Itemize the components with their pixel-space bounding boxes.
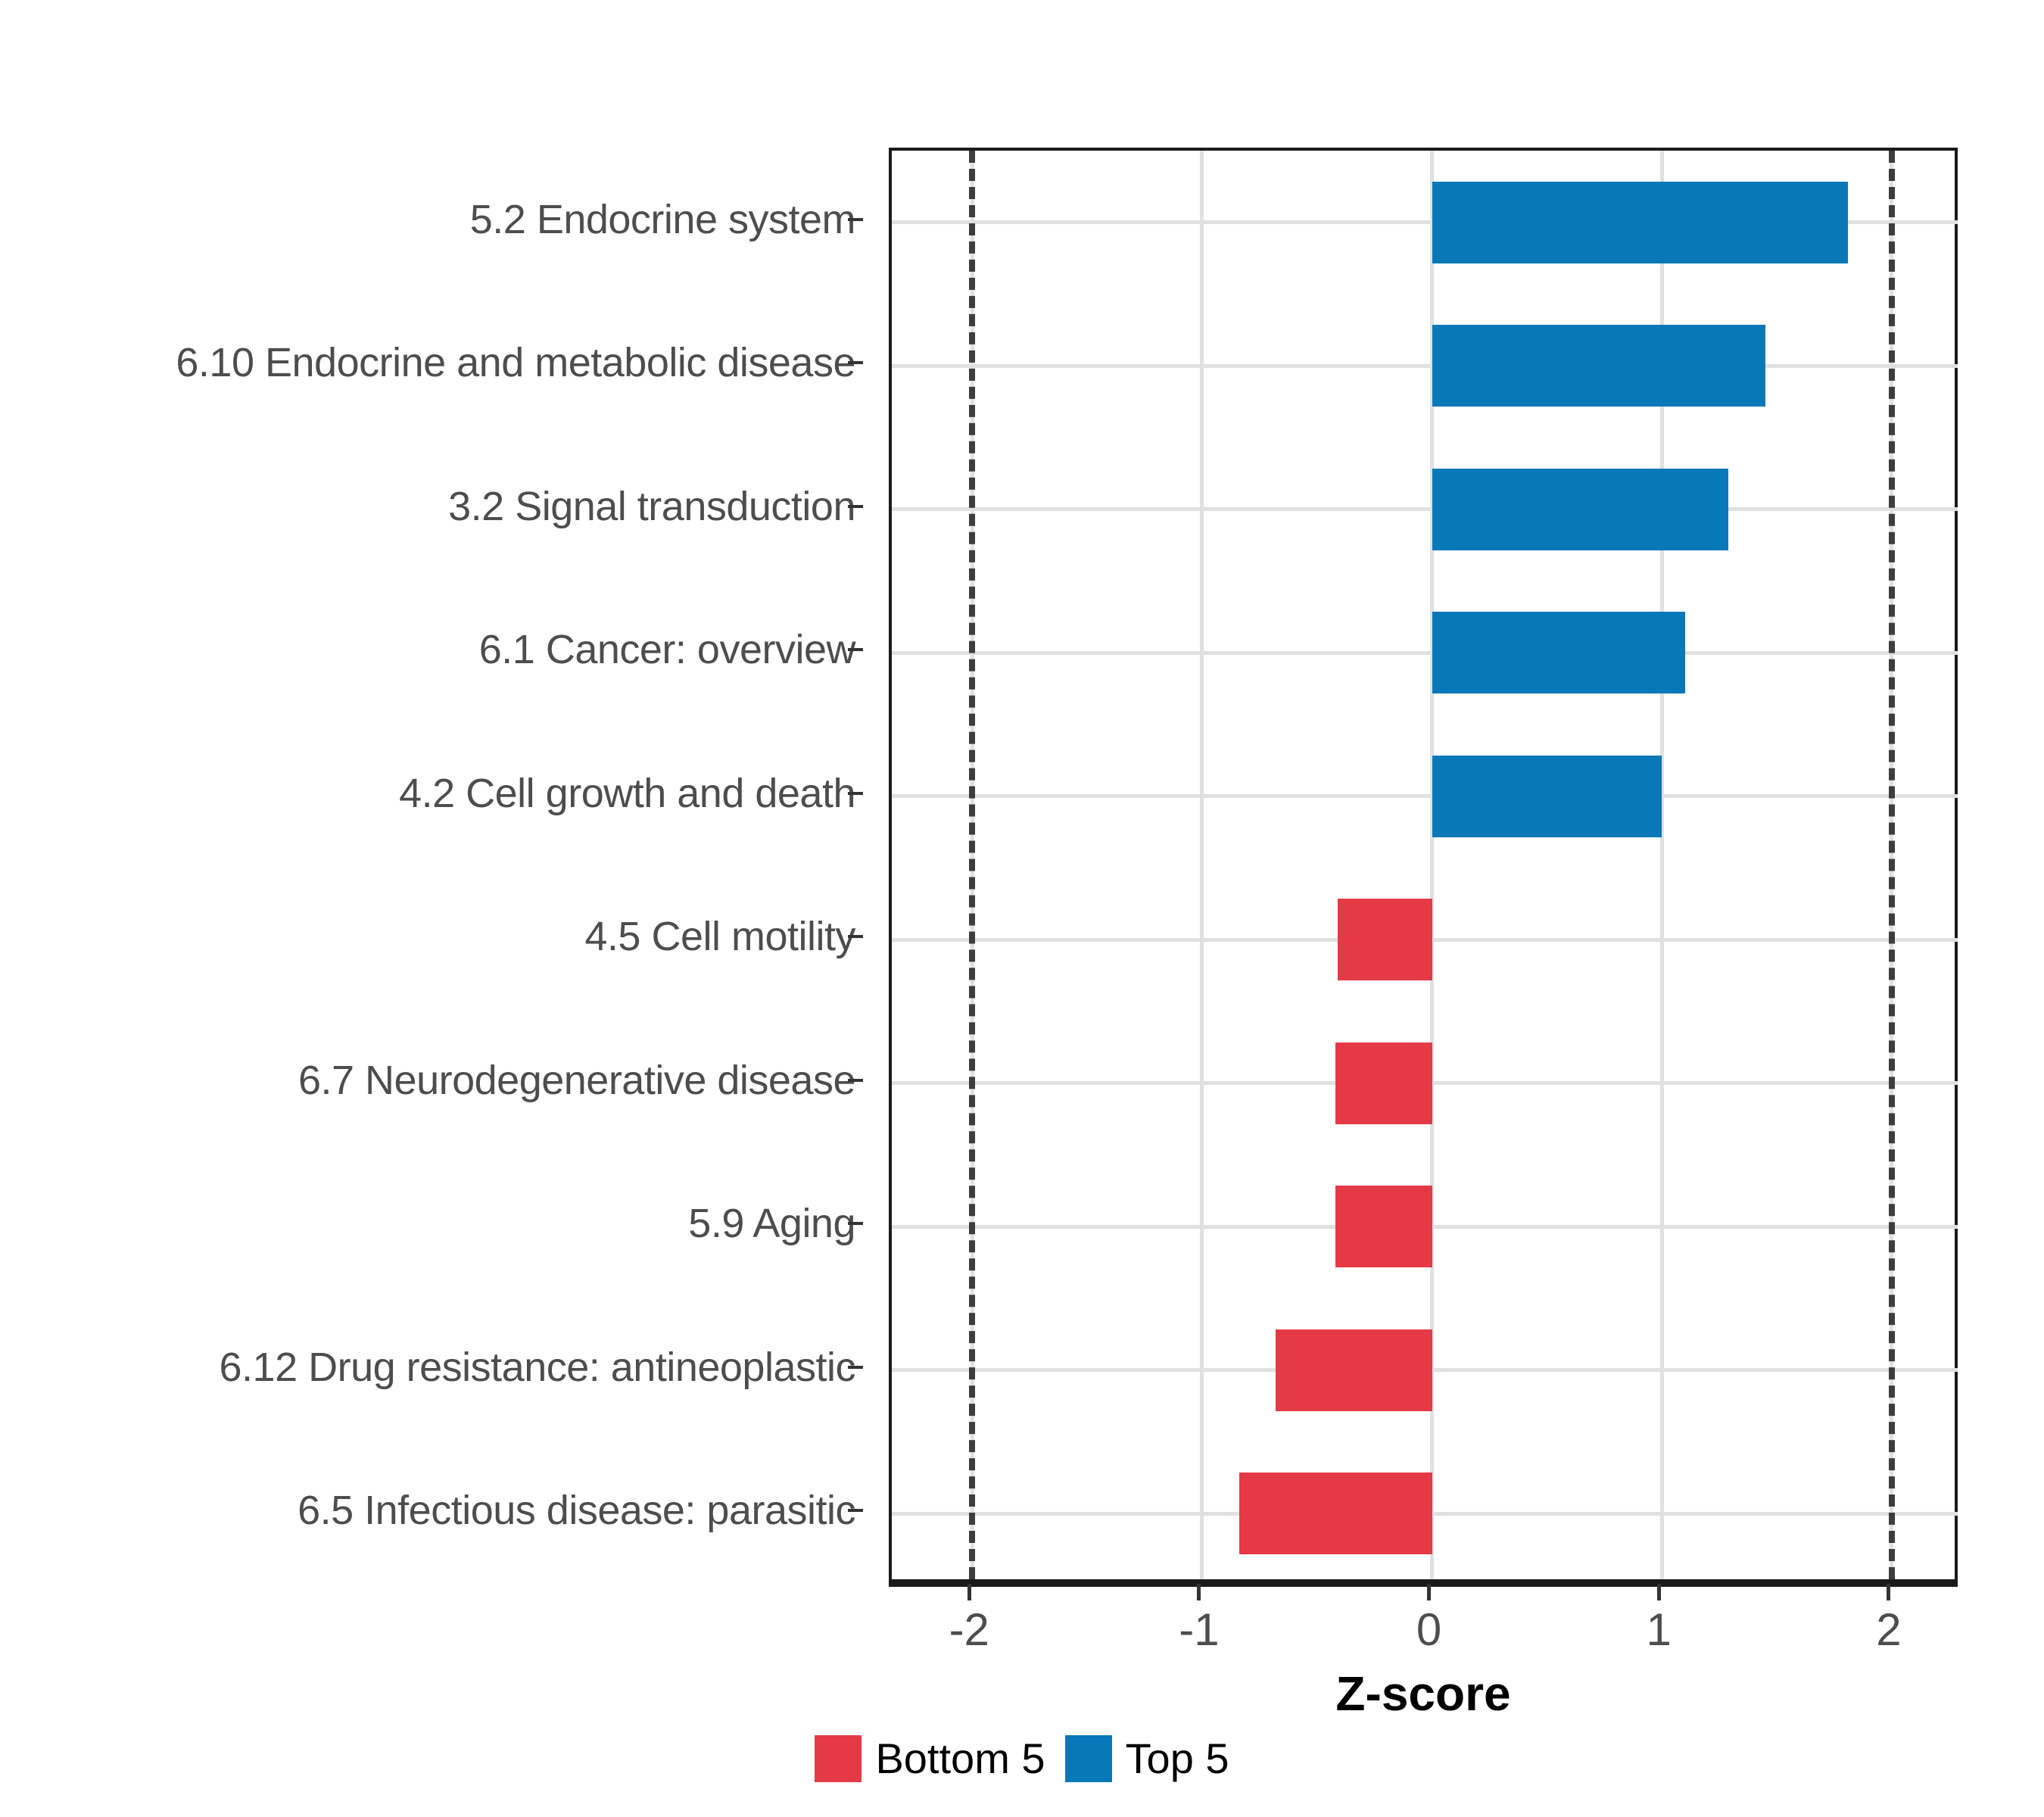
bar — [1432, 756, 1662, 837]
x-axis-tick-mark — [1427, 1584, 1431, 1600]
bar — [1432, 469, 1729, 550]
x-axis-tick-label: 2 — [1813, 1604, 1965, 1656]
y-axis-tick-label-row: 6.1 Cancer: overview — [0, 578, 863, 722]
y-axis-tick-label: 5.2 Endocrine system — [470, 196, 863, 243]
y-axis-tick-mark — [848, 1366, 863, 1369]
x-axis-line — [889, 1582, 1958, 1587]
legend-item: Bottom 5 — [815, 1734, 1045, 1783]
x-axis-tick-label: 1 — [1583, 1604, 1734, 1656]
y-axis-tick-label-row: 3.2 Signal transduction — [0, 435, 863, 578]
y-axis-tick-mark — [848, 505, 863, 508]
y-axis-tick-label-row: 5.2 Endocrine system — [0, 148, 863, 291]
bar — [1239, 1473, 1432, 1554]
plot-panel — [889, 148, 1958, 1582]
bar — [1338, 899, 1432, 980]
y-axis-tick-label: 3.2 Signal transduction — [448, 483, 863, 530]
y-axis-tick-label: 6.5 Infectious disease: parasitic — [298, 1487, 863, 1534]
y-axis-tick-label: 4.5 Cell motility — [584, 913, 863, 960]
y-axis-tick-mark — [848, 218, 863, 221]
x-axis-tick-mark — [1657, 1584, 1661, 1600]
y-axis-tick-label-row: 5.9 Aging — [0, 1152, 863, 1296]
legend: Bottom 5Top 5 — [0, 1734, 2044, 1783]
y-axis-tick-mark — [848, 1509, 863, 1512]
bar — [1276, 1329, 1432, 1411]
legend-color-swatch — [1065, 1735, 1112, 1782]
z-score-bar-chart: 5.2 Endocrine system6.10 Endocrine and m… — [0, 0, 2044, 1817]
y-axis-tick-mark — [848, 361, 863, 364]
x-axis-tick-label: -1 — [1123, 1604, 1275, 1656]
y-axis-tick-label-row: 6.12 Drug resistance: antineoplastic — [0, 1295, 863, 1439]
vertical-gridline — [1200, 151, 1204, 1579]
legend-label: Top 5 — [1126, 1734, 1229, 1783]
y-axis-tick-label: 6.1 Cancer: overview — [479, 626, 863, 673]
y-axis-tick-label-row: 6.10 Endocrine and metabolic disease — [0, 291, 863, 435]
x-axis-tick-label: 0 — [1354, 1604, 1505, 1656]
y-axis-tick-mark — [848, 792, 863, 795]
reference-line-dashed — [1889, 151, 1895, 1579]
y-axis-tick-label-row: 6.7 Neurodegenerative disease — [0, 1008, 863, 1152]
y-axis-tick-label: 6.12 Drug resistance: antineoplastic — [220, 1344, 864, 1391]
legend-color-swatch — [815, 1735, 862, 1782]
legend-label: Bottom 5 — [875, 1734, 1045, 1783]
y-axis-tick-mark — [848, 1222, 863, 1225]
x-axis-tick-label: -2 — [893, 1604, 1045, 1656]
y-axis-tick-mark — [848, 1079, 863, 1082]
bar — [1432, 325, 1765, 407]
legend-item: Top 5 — [1065, 1734, 1229, 1783]
y-axis-tick-label: 6.7 Neurodegenerative disease — [298, 1057, 863, 1104]
y-axis-tick-mark — [848, 935, 863, 938]
bar — [1432, 182, 1849, 263]
x-axis-tick-mark — [1197, 1584, 1201, 1600]
x-axis-title: Z-score — [889, 1666, 1958, 1722]
horizontal-gridline — [892, 507, 1958, 511]
horizontal-gridline — [892, 794, 1958, 798]
reference-line-dashed — [969, 151, 975, 1579]
y-axis-tick-label-row: 4.5 Cell motility — [0, 865, 863, 1009]
y-axis-tick-label-row: 6.5 Infectious disease: parasitic — [0, 1439, 863, 1583]
y-axis-tick-label: 6.10 Endocrine and metabolic disease — [176, 339, 863, 386]
horizontal-gridline — [892, 651, 1958, 655]
bar — [1335, 1186, 1432, 1267]
bar — [1335, 1043, 1432, 1124]
bar — [1432, 612, 1685, 693]
x-axis-tick-mark — [1887, 1584, 1890, 1600]
y-axis-tick-label: 5.9 Aging — [688, 1200, 863, 1247]
horizontal-gridline — [892, 364, 1958, 368]
y-axis-tick-label-row: 4.2 Cell growth and death — [0, 722, 863, 865]
x-axis-tick-mark — [967, 1584, 971, 1600]
y-axis-category-labels: 5.2 Endocrine system6.10 Endocrine and m… — [0, 148, 863, 1582]
y-axis-tick-label: 4.2 Cell growth and death — [399, 770, 863, 817]
y-axis-tick-mark — [848, 648, 863, 651]
